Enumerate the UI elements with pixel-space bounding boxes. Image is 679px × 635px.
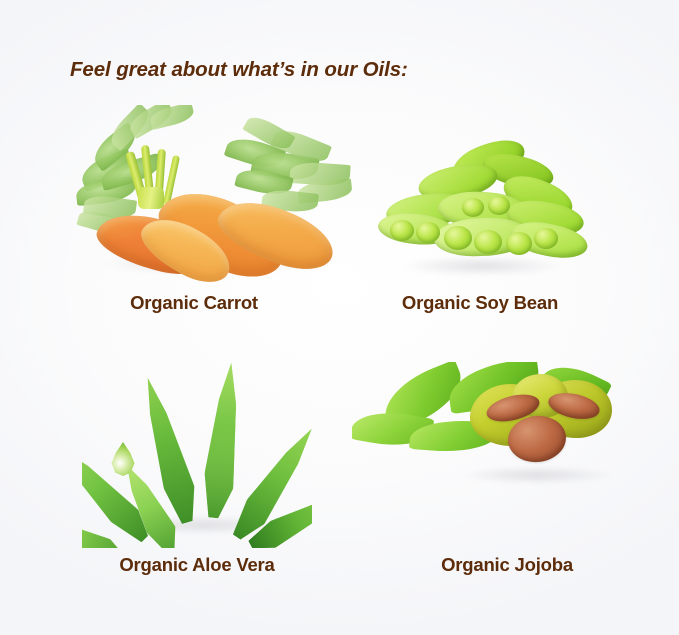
- organic-soy-bean-photo: [378, 140, 598, 285]
- ingredient-benefits-panel: Feel great about what’s in our Oils:: [0, 0, 679, 635]
- page-title: Feel great about what’s in our Oils:: [70, 58, 408, 82]
- organic-jojoba-photo: [352, 362, 622, 542]
- organic-carrot-photo: [76, 105, 356, 285]
- ingredient-label-jojoba: Organic Jojoba: [441, 554, 573, 576]
- ingredient-label-soy-bean: Organic Soy Bean: [402, 292, 558, 314]
- ingredient-label-aloe-vera: Organic Aloe Vera: [119, 554, 274, 576]
- organic-aloe-vera-photo: [82, 358, 312, 548]
- ingredient-label-carrot: Organic Carrot: [130, 292, 258, 314]
